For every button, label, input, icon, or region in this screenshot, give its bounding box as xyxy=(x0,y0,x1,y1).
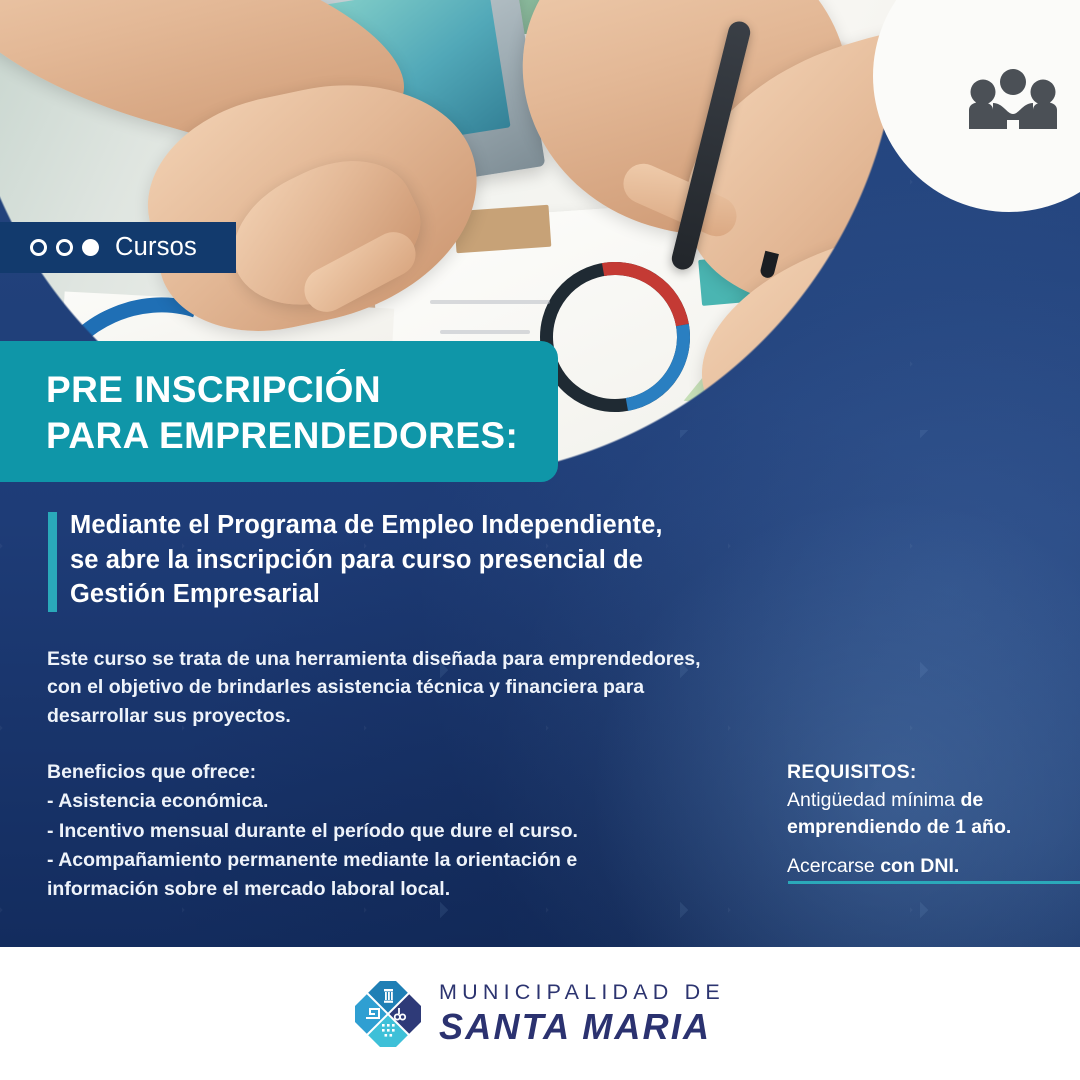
footer-logo-top: MUNICIPALIDAD DE xyxy=(439,982,725,1004)
requirements-line-1-bold: de xyxy=(960,789,983,811)
requirements-block: REQUISITOS: Antigüedad mínima de emprend… xyxy=(787,759,1080,881)
body-line-3: desarrollar sus proyectos. xyxy=(47,702,807,730)
photo-detail-rule xyxy=(430,300,550,304)
photo-detail-rule xyxy=(440,330,530,334)
footer-logo-text: MUNICIPALIDAD DE SANTA MARIA xyxy=(439,982,725,1045)
chip-dot-1-icon xyxy=(30,239,47,256)
body-line-1: Este curso se trata de una herramienta d… xyxy=(47,645,807,673)
requirements-title: REQUISITOS: xyxy=(787,759,1080,787)
body-paragraph: Este curso se trata de una herramienta d… xyxy=(47,645,807,730)
footer: MUNICIPALIDAD DE SANTA MARIA xyxy=(0,947,1080,1080)
benefits-item: - Incentivo mensual durante el período q… xyxy=(47,817,747,846)
headline-line-1: PRE INSCRIPCIÓN xyxy=(46,367,558,413)
requirements-underline xyxy=(788,881,1080,884)
chip-dot-3-icon xyxy=(82,239,99,256)
category-chip-label: Cursos xyxy=(115,233,197,262)
lead-paragraph: Mediante el Programa de Empleo Independi… xyxy=(70,508,830,612)
requirements-line-3: Acercarse con DNI. xyxy=(787,853,1080,881)
requirements-line-1-plain: Antigüedad mínima xyxy=(787,789,960,811)
requirements-line-2: emprendiendo de 1 año. xyxy=(787,814,1080,842)
poster-canvas: Cursos PRE INSCRIPCIÓN PARA EMPRENDEDORE… xyxy=(0,0,1080,1080)
lead-accent-bar xyxy=(48,512,57,612)
benefits-item: - Asistencia económica. xyxy=(47,787,747,816)
body-line-2: con el objetivo de brindarles asistencia… xyxy=(47,673,807,701)
benefits-block: Beneficios que ofrece: - Asistencia econ… xyxy=(47,758,747,904)
santa-maria-diamond-logo-icon xyxy=(355,981,421,1047)
chip-dot-2-icon xyxy=(56,239,73,256)
benefits-item: información sobre el mercado laboral loc… xyxy=(47,875,747,904)
footer-logo-bottom: SANTA MARIA xyxy=(439,1009,725,1045)
people-group-icon xyxy=(967,69,1059,135)
requirements-line-3-bold: con DNI. xyxy=(880,855,959,877)
headline-line-2: PARA EMPRENDEDORES: xyxy=(46,413,558,459)
lead-line-1: Mediante el Programa de Empleo Independi… xyxy=(70,508,830,543)
category-chip[interactable]: Cursos xyxy=(0,222,236,273)
requirements-line-1: Antigüedad mínima de xyxy=(787,787,1080,815)
benefits-title: Beneficios que ofrece: xyxy=(47,758,747,787)
lead-line-2: se abre la inscripción para curso presen… xyxy=(70,543,830,578)
requirements-line-2-bold: emprendiendo de 1 año. xyxy=(787,816,1011,838)
benefits-item: - Acompañamiento permanente mediante la … xyxy=(47,846,747,875)
lead-line-3: Gestión Empresarial xyxy=(70,577,830,612)
requirements-line-3-plain: Acercarse xyxy=(787,855,880,877)
headline-banner: PRE INSCRIPCIÓN PARA EMPRENDEDORES: xyxy=(0,341,558,482)
